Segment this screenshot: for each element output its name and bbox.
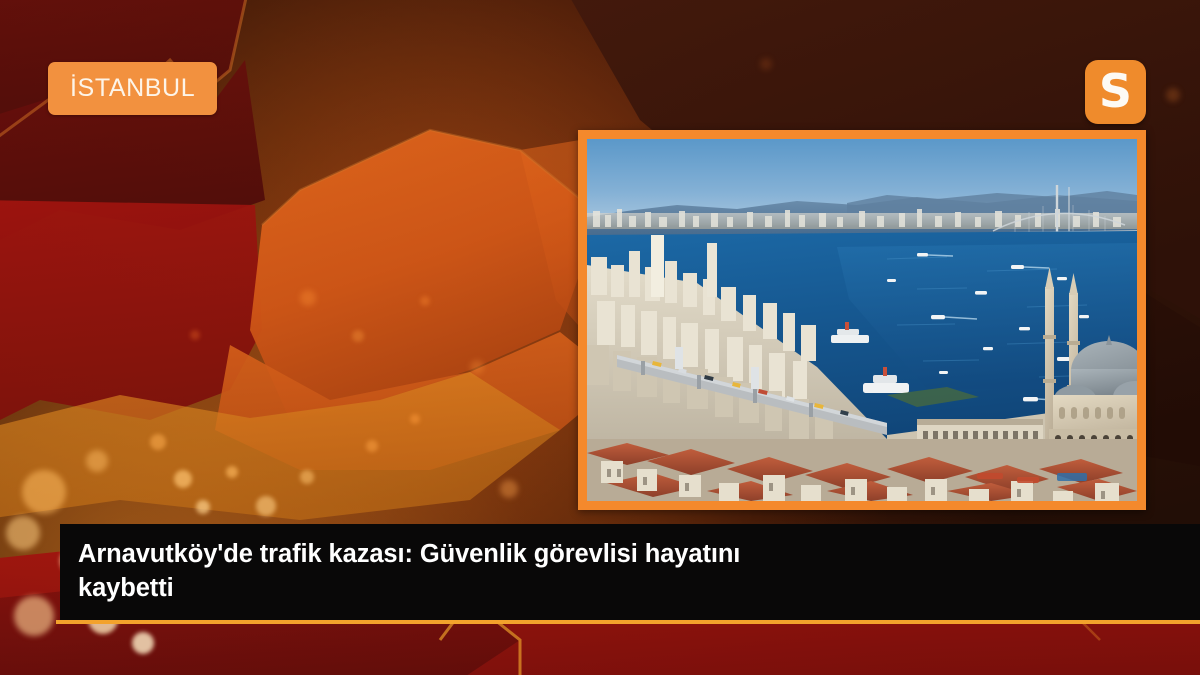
sozcu-s-logo-icon[interactable]: S <box>1085 60 1146 124</box>
istanbul-cityscape-illustration <box>587 139 1137 501</box>
news-photo-frame <box>578 130 1146 510</box>
page-title: Arnavutköy'de trafik kazası: Güvenlik gö… <box>60 538 820 605</box>
news-card: İSTANBUL S <box>0 0 1200 675</box>
city-badge-label: İSTANBUL <box>70 76 195 101</box>
headline-bar: Arnavutköy'de trafik kazası: Güvenlik gö… <box>60 524 1200 620</box>
logo-glyph: S <box>1099 68 1132 114</box>
headline-underline <box>56 620 1200 624</box>
foreground-rooftops <box>587 439 1137 501</box>
city-badge: İSTANBUL <box>48 62 217 115</box>
news-photo <box>587 139 1137 501</box>
